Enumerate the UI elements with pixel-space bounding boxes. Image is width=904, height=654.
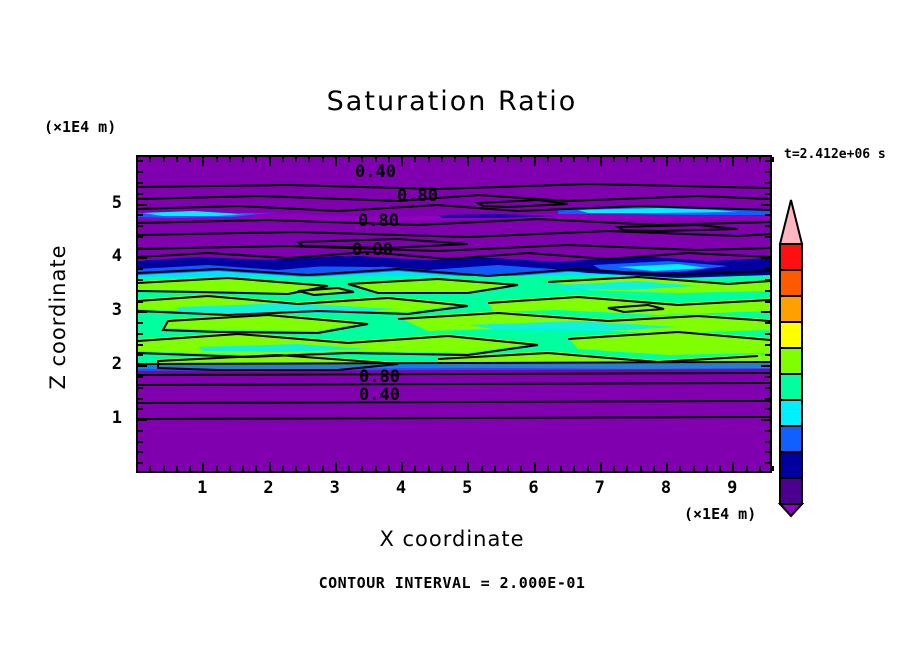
tick-mark: [693, 466, 695, 471]
tick-mark: [481, 157, 483, 162]
tick-mark: [138, 225, 143, 227]
tick-mark: [269, 462, 271, 471]
tick-mark: [138, 451, 143, 453]
tick-mark: [560, 157, 562, 162]
tick-mark: [520, 466, 522, 471]
tick-mark: [163, 157, 165, 162]
tick-mark: [308, 157, 310, 162]
contour-level-label: 0.80: [358, 211, 399, 231]
tick-mark: [732, 157, 734, 166]
x-tick-label: 8: [646, 478, 686, 498]
tick-mark: [138, 171, 143, 173]
tick-mark: [138, 214, 143, 216]
tick-mark: [600, 462, 602, 471]
tick-mark: [765, 247, 770, 249]
tick-mark: [626, 466, 628, 471]
tick-mark: [765, 214, 770, 216]
tick-mark: [401, 157, 403, 166]
tick-mark: [761, 419, 770, 421]
tick-mark: [765, 462, 770, 464]
tick-mark: [467, 157, 469, 166]
y-tick-label: 2: [88, 354, 122, 374]
tick-mark: [216, 157, 218, 162]
tick-mark: [138, 322, 143, 324]
y-tick-label: 3: [88, 300, 122, 320]
tick-mark: [176, 466, 178, 471]
tick-mark: [679, 466, 681, 471]
tick-mark: [216, 466, 218, 471]
y-axis-title: Z coordinate: [46, 222, 70, 412]
tick-mark: [600, 157, 602, 166]
tick-mark: [295, 157, 297, 162]
tick-mark: [719, 157, 721, 162]
tick-mark: [706, 466, 708, 471]
tick-mark: [149, 466, 151, 471]
tick-mark: [138, 344, 143, 346]
tick-mark: [138, 301, 143, 303]
x-tick-label: 4: [381, 478, 421, 498]
tick-mark: [765, 279, 770, 281]
tick-mark: [666, 462, 668, 471]
tick-mark: [706, 157, 708, 162]
contour-plot: [136, 155, 772, 473]
tick-mark: [494, 466, 496, 471]
x-tick-label: 3: [315, 478, 355, 498]
tick-mark: [765, 333, 770, 335]
tick-mark: [765, 344, 770, 346]
tick-mark: [138, 387, 143, 389]
tick-mark: [361, 466, 363, 471]
tick-mark: [335, 157, 337, 166]
tick-mark: [138, 462, 143, 464]
x-tick-label: 5: [447, 478, 487, 498]
tick-mark: [481, 466, 483, 471]
tick-mark: [335, 462, 337, 471]
tick-mark: [229, 466, 231, 471]
x-tick-label: 6: [514, 478, 554, 498]
y-axis-unit-label: (×1E4 m): [44, 118, 116, 136]
contour-level-label: 0.80: [359, 367, 400, 387]
tick-mark: [242, 466, 244, 471]
tick-mark: [520, 157, 522, 162]
tick-mark: [626, 157, 628, 162]
tick-mark: [414, 157, 416, 162]
tick-mark: [765, 398, 770, 400]
tick-mark: [138, 290, 143, 292]
tick-mark: [375, 466, 377, 471]
tick-mark: [138, 333, 143, 335]
contour-level-label: 0.80: [352, 240, 393, 260]
tick-mark: [441, 466, 443, 471]
tick-mark: [176, 157, 178, 162]
tick-mark: [640, 157, 642, 162]
contour-field: [138, 157, 770, 471]
contour-level-label: 0.40: [359, 385, 400, 405]
tick-mark: [348, 157, 350, 162]
x-tick-label: 7: [580, 478, 620, 498]
tick-mark: [138, 408, 143, 410]
tick-mark: [138, 311, 147, 313]
tick-mark: [322, 157, 324, 162]
tick-mark: [308, 466, 310, 471]
tick-mark: [587, 466, 589, 471]
tick-mark: [441, 157, 443, 162]
tick-mark: [765, 290, 770, 292]
tick-mark: [765, 322, 770, 324]
tick-mark: [255, 157, 257, 162]
tick-mark: [255, 466, 257, 471]
tick-mark: [269, 157, 271, 166]
tick-mark: [507, 466, 509, 471]
tick-mark: [547, 157, 549, 162]
tick-mark: [138, 236, 143, 238]
tick-mark: [202, 157, 204, 166]
tick-mark: [138, 398, 143, 400]
tick-mark: [242, 157, 244, 162]
tick-mark: [138, 193, 143, 195]
tick-mark: [138, 430, 143, 432]
tick-mark: [138, 247, 143, 249]
colorbar-gradient: [778, 198, 812, 518]
x-tick-label: 1: [182, 478, 222, 498]
tick-mark: [454, 466, 456, 471]
tick-mark: [534, 462, 536, 471]
tick-mark: [759, 157, 761, 162]
tick-mark: [138, 365, 147, 367]
tick-mark: [282, 157, 284, 162]
time-annotation: t=2.412e+06 s: [784, 147, 886, 162]
tick-mark: [507, 157, 509, 162]
tick-mark: [613, 157, 615, 162]
tick-mark: [414, 466, 416, 471]
tick-mark: [388, 466, 390, 471]
tick-mark: [428, 157, 430, 162]
tick-mark: [765, 387, 770, 389]
tick-mark: [761, 365, 770, 367]
tick-mark: [149, 157, 151, 162]
tick-mark: [761, 204, 770, 206]
y-tick-label: 5: [88, 193, 122, 213]
tick-mark: [772, 157, 774, 162]
tick-mark: [765, 225, 770, 227]
tick-mark: [666, 157, 668, 166]
contour-interval-caption: CONTOUR INTERVAL = 2.000E-01: [0, 574, 904, 592]
tick-mark: [761, 311, 770, 313]
tick-mark: [772, 466, 774, 471]
x-axis-unit-label: (×1E4 m): [684, 505, 756, 523]
tick-mark: [428, 466, 430, 471]
tick-mark: [560, 466, 562, 471]
tick-mark: [189, 157, 191, 162]
tick-mark: [746, 157, 748, 162]
tick-mark: [138, 441, 143, 443]
tick-mark: [640, 466, 642, 471]
page-title: Saturation Ratio: [0, 86, 904, 117]
tick-mark: [693, 157, 695, 162]
tick-mark: [348, 466, 350, 471]
tick-mark: [746, 466, 748, 471]
tick-mark: [765, 160, 770, 162]
tick-mark: [282, 466, 284, 471]
tick-mark: [202, 462, 204, 471]
tick-mark: [295, 466, 297, 471]
tick-mark: [163, 466, 165, 471]
x-tick-label: 2: [249, 478, 289, 498]
tick-mark: [761, 257, 770, 259]
tick-mark: [765, 354, 770, 356]
tick-mark: [189, 466, 191, 471]
tick-mark: [765, 171, 770, 173]
tick-mark: [679, 157, 681, 162]
tick-mark: [765, 193, 770, 195]
tick-mark: [138, 279, 143, 281]
tick-mark: [547, 466, 549, 471]
tick-mark: [653, 157, 655, 162]
contour-level-label: 0.80: [397, 186, 438, 206]
tick-mark: [138, 160, 143, 162]
tick-mark: [573, 466, 575, 471]
tick-mark: [534, 157, 536, 166]
tick-mark: [587, 157, 589, 162]
tick-mark: [613, 466, 615, 471]
tick-mark: [138, 419, 147, 421]
tick-mark: [494, 157, 496, 162]
tick-mark: [765, 376, 770, 378]
tick-mark: [719, 466, 721, 471]
tick-mark: [765, 301, 770, 303]
tick-mark: [765, 236, 770, 238]
tick-mark: [229, 157, 231, 162]
tick-mark: [765, 430, 770, 432]
colorbar: 1.08 1.04 1 0.96 0.92: [778, 198, 812, 522]
tick-mark: [765, 182, 770, 184]
tick-mark: [138, 268, 143, 270]
tick-mark: [573, 157, 575, 162]
tick-mark: [138, 376, 143, 378]
tick-mark: [138, 257, 147, 259]
x-axis-title: X coordinate: [0, 527, 904, 551]
contour-level-label: 0.40: [355, 162, 396, 182]
tick-mark: [138, 204, 147, 206]
y-tick-label: 1: [88, 408, 122, 428]
tick-mark: [467, 462, 469, 471]
tick-mark: [653, 466, 655, 471]
tick-mark: [765, 441, 770, 443]
tick-mark: [765, 451, 770, 453]
tick-mark: [765, 268, 770, 270]
tick-mark: [765, 408, 770, 410]
y-tick-label: 4: [88, 246, 122, 266]
x-tick-label: 9: [712, 478, 752, 498]
tick-mark: [322, 466, 324, 471]
tick-mark: [732, 462, 734, 471]
tick-mark: [401, 462, 403, 471]
tick-mark: [138, 182, 143, 184]
tick-mark: [454, 157, 456, 162]
tick-mark: [138, 354, 143, 356]
tick-mark: [759, 466, 761, 471]
